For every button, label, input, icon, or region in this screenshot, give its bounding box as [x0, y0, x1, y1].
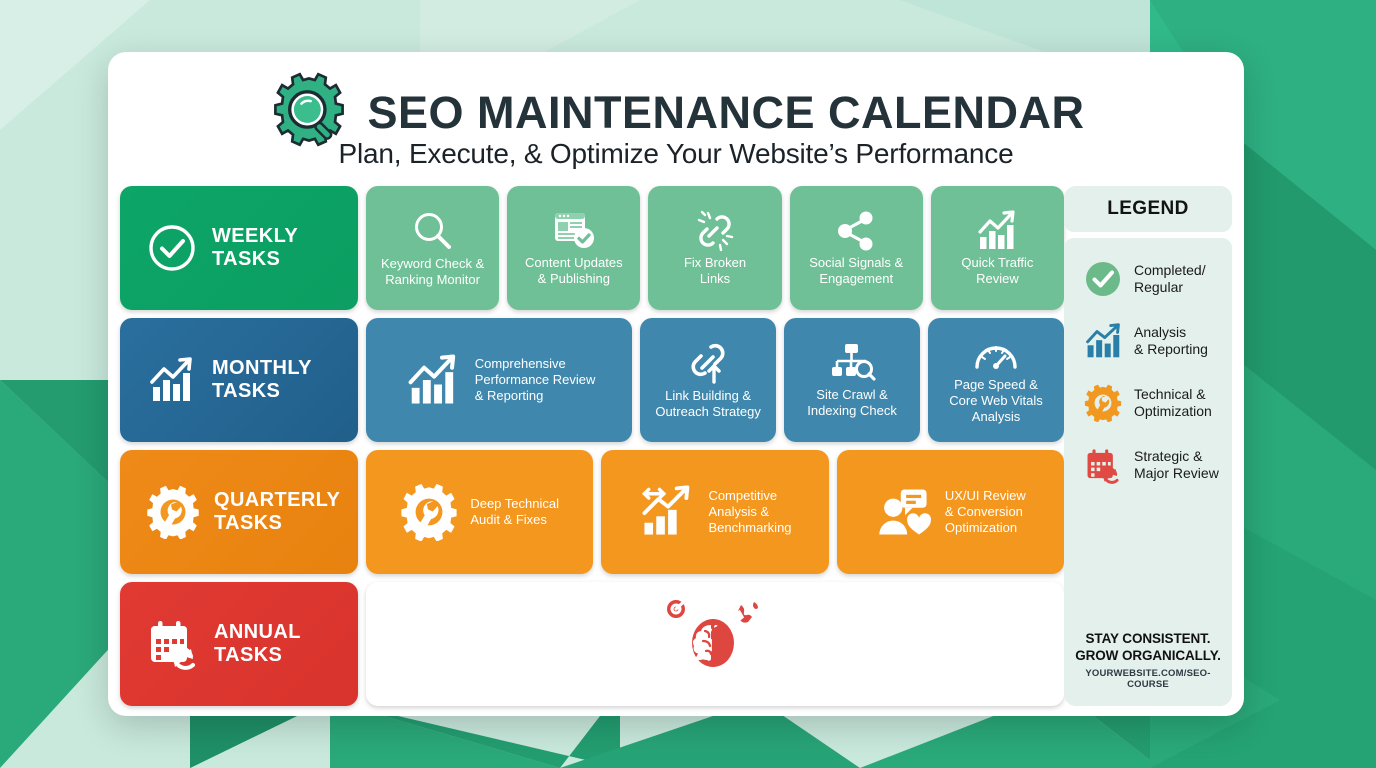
task-line1: Quick Traffic [961, 255, 1033, 271]
link-up-arrow-icon [685, 340, 731, 386]
task-line3: & Reporting [475, 388, 596, 404]
cta-line2: GROW ORGANICALLY. [1070, 648, 1226, 665]
legend-line2: Optimization [1134, 403, 1212, 420]
task-line3: Analysis [949, 409, 1042, 425]
cat-line1: WEEKLY [212, 225, 298, 248]
task-label: Competitive Analysis & Benchmarking [708, 488, 791, 536]
legend-line2: Major Review [1134, 465, 1219, 482]
legend-item-label: Analysis & Reporting [1134, 324, 1208, 358]
legend-line1: Completed/ [1134, 262, 1206, 279]
task-deep-technical-audit[interactable]: Deep Technical Audit & Fixes [366, 450, 593, 574]
annual-left-line1: SEO Strategy Overhaul, [419, 625, 586, 644]
page-title: SEO MAINTENANCE CALENDAR [367, 90, 1084, 135]
gear-brain-icon [658, 589, 768, 699]
cat-line2: TASKS [214, 644, 301, 667]
cat-line2: TASKS [214, 512, 340, 535]
task-quick-traffic[interactable]: Quick Traffic Review [931, 186, 1064, 310]
legend-footer: STAY CONSISTENT. GROW ORGANICALLY. YOURW… [1064, 631, 1232, 694]
legend-line2: Regular [1134, 279, 1206, 296]
task-line2: Engagement [809, 271, 903, 287]
task-label: Site Crawl & Indexing Check [807, 387, 897, 419]
task-label: Social Signals & Engagement [809, 255, 903, 287]
cat-line2: TASKS [212, 248, 298, 271]
row-weekly: WEEKLY TASKS Keyword Check & Ranking Mon… [120, 186, 1064, 310]
task-line1: Comprehensive [475, 356, 596, 372]
task-line2: Outreach Strategy [655, 404, 761, 420]
bar-chart-arrow-icon [403, 352, 463, 408]
task-grid: WEEKLY TASKS Keyword Check & Ranking Mon… [120, 186, 1064, 706]
cat-line1: QUARTERLY [214, 489, 340, 512]
task-line2: Links [684, 271, 746, 287]
gear-wrench-icon [1084, 384, 1122, 422]
row-annual: ANNUAL TASKS SEO Strategy Overhaul, Plat… [120, 582, 1064, 706]
task-site-crawl[interactable]: Site Crawl & Indexing Check [784, 318, 920, 442]
task-comprehensive-performance[interactable]: Comprehensive Performance Review & Repor… [366, 318, 632, 442]
task-fix-broken-links[interactable]: Fix Broken Links [648, 186, 781, 310]
coin-stack-icon [725, 659, 757, 695]
task-label: UX/UI Review & Conversion Optimization [945, 488, 1026, 536]
share-nodes-icon [833, 209, 879, 253]
page-subtitle: Plan, Execute, & Optimize Your Website’s… [339, 138, 1014, 170]
category-annual-label: ANNUAL TASKS [214, 621, 301, 667]
footer-url[interactable]: YOURWEBSITE.COM/SEO-COURSE [1070, 668, 1226, 690]
annual-right-line3: Budget Allocation [842, 653, 1012, 672]
document-check-icon [551, 209, 597, 253]
globe-grid-icon [663, 664, 689, 690]
task-line1: Keyword Check & [381, 256, 484, 272]
annual-right-label: Platform & Hosting Review, Long-term Goa… [842, 616, 1012, 673]
check-circle-icon [146, 222, 198, 274]
user-feedback-heart-icon [875, 485, 933, 539]
task-line3: Optimization [945, 520, 1026, 536]
cat-line1: ANNUAL [214, 621, 301, 644]
earth-globe-icon [737, 598, 763, 624]
task-label: Link Building & Outreach Strategy [655, 388, 761, 420]
category-monthly[interactable]: MONTHLY TASKS [120, 318, 358, 442]
task-line1: UX/UI Review [945, 488, 1026, 504]
cta-line1: STAY CONSISTENT. [1070, 631, 1226, 648]
category-annual[interactable]: ANNUAL TASKS [120, 582, 358, 706]
legend-item-completed[interactable]: Completed/ Regular [1084, 260, 1232, 298]
legend-body: Completed/ Regular [1064, 238, 1232, 706]
category-quarterly[interactable]: QUARTERLY TASKS [120, 450, 358, 574]
row-monthly: MONTHLY TASKS Comprehensive Performance … [120, 318, 1064, 442]
task-line1: Deep Technical [470, 496, 559, 512]
legend-line1: Technical & [1134, 386, 1212, 403]
calendar-refresh-icon [1084, 446, 1122, 484]
task-line1: Site Crawl & [807, 387, 897, 403]
task-line2: Audit & Fixes [470, 512, 559, 528]
task-line2: & Conversion [945, 504, 1026, 520]
task-label: Fix Broken Links [684, 255, 746, 287]
task-line2: Performance Review [475, 372, 596, 388]
task-page-speed[interactable]: Page Speed & Core Web Vitals Analysis [928, 318, 1064, 442]
task-label: Page Speed & Core Web Vitals Analysis [949, 377, 1042, 425]
task-line3: Benchmarking [708, 520, 791, 536]
task-line2: Indexing Check [807, 403, 897, 419]
task-line2: Review [961, 271, 1033, 287]
calendar-refresh-icon [146, 618, 200, 670]
legend-item-label: Technical & Optimization [1134, 386, 1212, 420]
task-line1: Fix Broken [684, 255, 746, 271]
task-competitive-analysis[interactable]: Competitive Analysis & Benchmarking [601, 450, 828, 574]
task-line1: Link Building & [655, 388, 761, 404]
bar-chart-arrow-icon [1084, 322, 1122, 360]
task-annual-strategy[interactable]: SEO Strategy Overhaul, Platform & Hostin… [366, 582, 1064, 706]
bar-chart-arrow-icon [974, 209, 1020, 253]
legend-item-label: Strategic & Major Review [1134, 448, 1219, 482]
task-line1: Social Signals & [809, 255, 903, 271]
sitemap-search-icon [828, 341, 876, 385]
bar-chart-arrow-icon [146, 355, 198, 405]
speedometer-icon [973, 335, 1019, 375]
task-line2: Core Web Vitals [949, 393, 1042, 409]
task-social-signals[interactable]: Social Signals & Engagement [790, 186, 923, 310]
legend-items: Completed/ Regular [1064, 260, 1232, 631]
task-line2: & Publishing [525, 271, 623, 287]
header: SEO MAINTENANCE CALENDAR Plan, Execute, … [108, 52, 1244, 186]
cat-line2: TASKS [212, 380, 312, 403]
legend-panel: LEGEND Completed/ Regular [1064, 186, 1232, 706]
task-content-updates[interactable]: Content Updates & Publishing [507, 186, 640, 310]
legend-item-analysis[interactable]: Analysis & Reporting [1084, 322, 1232, 360]
task-label: Comprehensive Performance Review & Repor… [475, 356, 596, 404]
task-line2: Ranking Monitor [381, 272, 484, 288]
check-circle-filled-icon [1084, 260, 1122, 298]
legend-item-label: Completed/ Regular [1134, 262, 1206, 296]
annual-left-label: SEO Strategy Overhaul, Platform & Hostin… [419, 625, 586, 663]
infographic-board: SEO MAINTENANCE CALENDAR Plan, Execute, … [108, 52, 1244, 716]
annual-right-line1: Platform & Hosting Review, [842, 616, 1012, 635]
broken-link-icon [692, 209, 738, 253]
legend-line1: Strategic & [1134, 448, 1219, 465]
task-line1: Competitive [708, 488, 791, 504]
category-monthly-label: MONTHLY TASKS [212, 357, 312, 403]
category-weekly-label: WEEKLY TASKS [212, 225, 298, 271]
task-line2: Analysis & [708, 504, 791, 520]
task-label: Keyword Check & Ranking Monitor [381, 256, 484, 288]
compare-chart-icon [638, 484, 696, 540]
legend-item-technical[interactable]: Technical & Optimization [1084, 384, 1232, 422]
task-uxui-review[interactable]: UX/UI Review & Conversion Optimization [837, 450, 1064, 574]
gear-wrench-icon [400, 483, 458, 541]
task-label: Quick Traffic Review [961, 255, 1033, 287]
annual-right-line2: Long-term Goal Setting, & [842, 635, 1012, 654]
category-quarterly-label: QUARTERLY TASKS [214, 489, 340, 535]
legend-line2: & Reporting [1134, 341, 1208, 358]
magnifier-icon [410, 208, 456, 254]
cat-line1: MONTHLY [212, 357, 312, 380]
task-label: Deep Technical Audit & Fixes [470, 496, 559, 528]
annual-icon-cluster [658, 589, 768, 699]
gear-wrench-icon [146, 485, 200, 539]
row-quarterly: QUARTERLY TASKS Deep Technical Audit & F… [120, 450, 1064, 574]
legend-line1: Analysis [1134, 324, 1208, 341]
annual-left-line2: Platform & Hosting Review [419, 644, 586, 663]
task-label: Content Updates & Publishing [525, 255, 623, 287]
task-keyword-check[interactable]: Keyword Check & Ranking Monitor [366, 186, 499, 310]
category-weekly[interactable]: WEEKLY TASKS [120, 186, 358, 310]
task-line1: Content Updates [525, 255, 623, 271]
task-link-building[interactable]: Link Building & Outreach Strategy [640, 318, 776, 442]
task-line1: Page Speed & [949, 377, 1042, 393]
legend-title: LEGEND [1064, 186, 1232, 232]
legend-item-strategic[interactable]: Strategic & Major Review [1084, 446, 1232, 484]
